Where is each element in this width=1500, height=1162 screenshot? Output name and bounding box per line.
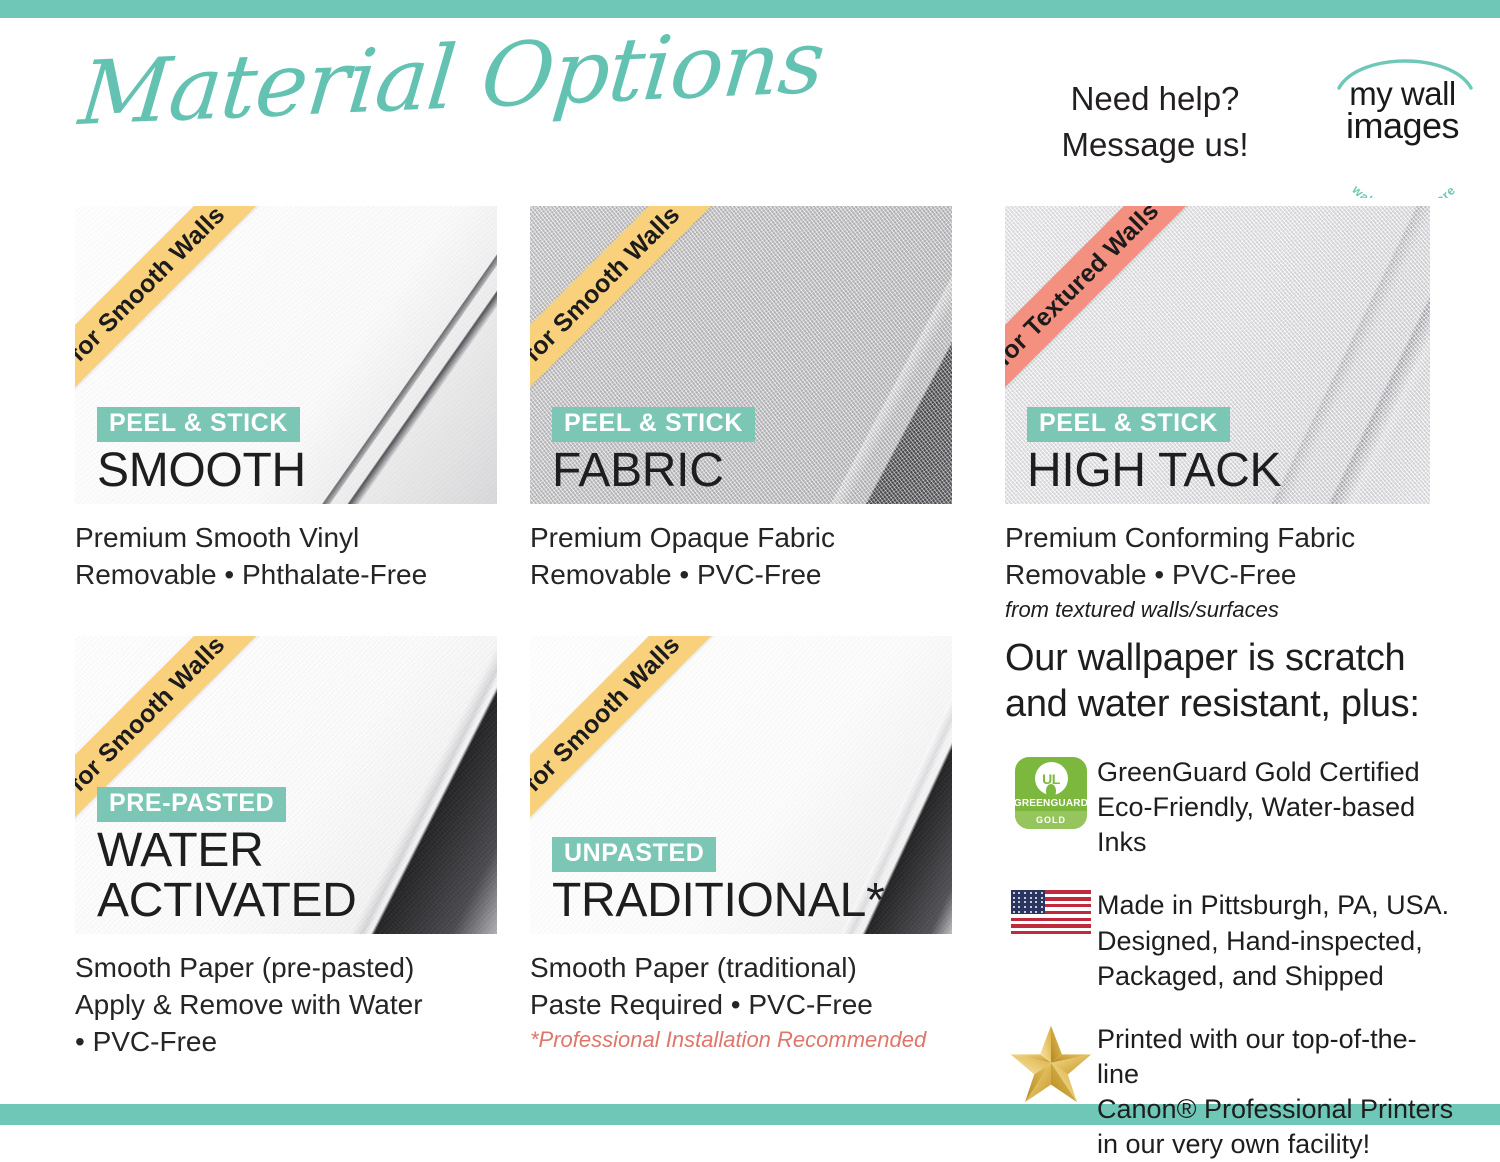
material-name: TRADITIONAL* — [552, 876, 884, 926]
material-photo-smooth: for Smooth Walls PEEL & STICK SMOOTH — [75, 206, 497, 504]
flag-canton — [1011, 890, 1045, 914]
help-line-1: Need help? — [1040, 76, 1270, 122]
feature-line-3: in our very own facility! — [1097, 1127, 1455, 1162]
material-caption: Premium Smooth Vinyl Removable • Phthala… — [75, 520, 497, 594]
feature-line-2: Canon® Professional Printers — [1097, 1092, 1455, 1127]
logo-line-2: images — [1325, 109, 1480, 143]
adhesive-type-badge: PEEL & STICK — [1027, 407, 1230, 442]
logo-tagline-text: wallpaper + more — [1349, 182, 1459, 198]
adhesive-type-badge: PEEL & STICK — [97, 407, 300, 442]
material-caption: Smooth Paper (pre-pasted) Apply & Remove… — [75, 950, 497, 1061]
page-header: Material Options Need help? Message us! … — [0, 18, 1500, 206]
material-caption: Premium Conforming Fabric Removable • PV… — [1005, 520, 1427, 625]
material-caption: Smooth Paper (traditional) Paste Require… — [530, 950, 952, 1055]
feature-line-1: Made in Pittsburgh, PA, USA. — [1097, 888, 1449, 923]
material-label-group: PEEL & STICK SMOOTH — [97, 407, 306, 496]
feature-icon-slot: UL GREENGUARD GOLD — [1005, 753, 1097, 829]
material-label-group: PEEL & STICK FABRIC — [552, 407, 755, 496]
material-label-group: PEEL & STICK HIGH TACK — [1027, 407, 1281, 496]
material-photo-traditional: for Smooth Walls UNPASTED TRADITIONAL* — [530, 636, 952, 934]
features-heading-line-2: and water resistant, plus: — [1005, 682, 1455, 728]
feature-text: GreenGuard Gold Certified Eco-Friendly, … — [1097, 753, 1455, 860]
caption-line-2: Removable • PVC-Free — [530, 557, 952, 594]
feature-text: Printed with our top-of-the-line Canon® … — [1097, 1020, 1455, 1162]
caption-line-1: Smooth Paper (traditional) — [530, 950, 952, 987]
feature-line-2: Eco-Friendly, Water-based Inks — [1097, 790, 1455, 860]
feature-row-canon-printers: Printed with our top-of-the-line Canon® … — [1005, 1020, 1455, 1162]
caption-line-2: Removable • PVC-Free — [1005, 557, 1427, 594]
caption-line-1: Premium Smooth Vinyl — [75, 520, 497, 557]
logo-wordmark: my wall images — [1325, 78, 1480, 144]
brand-logo: my wall images wallpaper + more — [1325, 48, 1480, 198]
caption-note: *Professional Installation Recommended — [530, 1026, 952, 1055]
caption-line-1: Premium Opaque Fabric — [530, 520, 952, 557]
features-panel: Our wallpaper is scratch and water resis… — [1005, 636, 1455, 1162]
greenguard-tier: GOLD — [1015, 811, 1087, 829]
gold-star-icon — [1009, 1024, 1093, 1104]
material-photo-high-tack: for Textured Walls PEEL & STICK HIGH TAC… — [1005, 206, 1430, 504]
adhesive-type-badge: PRE-PASTED — [97, 787, 286, 822]
caption-line-2: Paste Required • PVC-Free — [530, 987, 952, 1024]
material-card-high-tack[interactable]: for Textured Walls PEEL & STICK HIGH TAC… — [1005, 206, 1427, 625]
caption-line-1: Premium Conforming Fabric — [1005, 520, 1427, 557]
greenguard-wordmark: GREENGUARD — [1015, 798, 1087, 809]
material-label-group: PRE-PASTED WATER ACTIVATED — [97, 787, 427, 926]
features-heading: Our wallpaper is scratch and water resis… — [1005, 636, 1455, 727]
feature-row-made-in-usa: Made in Pittsburgh, PA, USA. Designed, H… — [1005, 886, 1455, 993]
material-card-traditional[interactable]: for Smooth Walls UNPASTED TRADITIONAL* S… — [530, 636, 952, 1055]
caption-note: from textured walls/surfaces — [1005, 596, 1427, 625]
material-name: WATER ACTIVATED — [97, 826, 427, 926]
caption-line-3: • PVC-Free — [75, 1024, 497, 1061]
svg-text:wallpaper + more: wallpaper + more — [1349, 182, 1459, 198]
ul-mark-icon: UL — [1035, 762, 1068, 795]
feature-line-3: Packaged, and Shipped — [1097, 959, 1449, 994]
greenguard-gold-badge-icon: UL GREENGUARD GOLD — [1015, 757, 1087, 829]
us-flag-icon — [1011, 890, 1091, 934]
material-name: SMOOTH — [97, 446, 306, 496]
caption-line-1: Smooth Paper (pre-pasted) — [75, 950, 497, 987]
help-line-2: Message us! — [1040, 122, 1270, 168]
feature-row-greenguard: UL GREENGUARD GOLD GreenGuard Gold Certi… — [1005, 753, 1455, 860]
logo-tagline-arc: wallpaper + more — [1329, 150, 1479, 198]
material-card-smooth[interactable]: for Smooth Walls PEEL & STICK SMOOTH Pre… — [75, 206, 497, 594]
material-name: HIGH TACK — [1027, 446, 1281, 496]
feature-line-1: Printed with our top-of-the-line — [1097, 1022, 1455, 1092]
caption-line-2: Removable • Phthalate-Free — [75, 557, 497, 594]
caption-line-2: Apply & Remove with Water — [75, 987, 497, 1024]
feature-line-1: GreenGuard Gold Certified — [1097, 755, 1455, 790]
material-card-water-activated[interactable]: for Smooth Walls PRE-PASTED WATER ACTIVA… — [75, 636, 497, 1061]
features-heading-line-1: Our wallpaper is scratch — [1005, 636, 1455, 682]
feature-icon-slot — [1005, 1020, 1097, 1104]
adhesive-type-badge: UNPASTED — [552, 837, 716, 872]
material-name: FABRIC — [552, 446, 755, 496]
feature-icon-slot — [1005, 886, 1097, 934]
page-title: Material Options — [76, 18, 828, 138]
feature-text: Made in Pittsburgh, PA, USA. Designed, H… — [1097, 886, 1449, 993]
feature-line-2: Designed, Hand-inspected, — [1097, 924, 1449, 959]
adhesive-type-badge: PEEL & STICK — [552, 407, 755, 442]
material-label-group: UNPASTED TRADITIONAL* — [552, 837, 884, 926]
material-photo-water-activated: for Smooth Walls PRE-PASTED WATER ACTIVA… — [75, 636, 497, 934]
material-card-fabric[interactable]: for Smooth Walls PEEL & STICK FABRIC Pre… — [530, 206, 952, 594]
material-caption: Premium Opaque Fabric Removable • PVC-Fr… — [530, 520, 952, 594]
material-photo-fabric: for Smooth Walls PEEL & STICK FABRIC — [530, 206, 952, 504]
help-prompt: Need help? Message us! — [1040, 76, 1270, 167]
leaf-icon — [1046, 784, 1056, 798]
